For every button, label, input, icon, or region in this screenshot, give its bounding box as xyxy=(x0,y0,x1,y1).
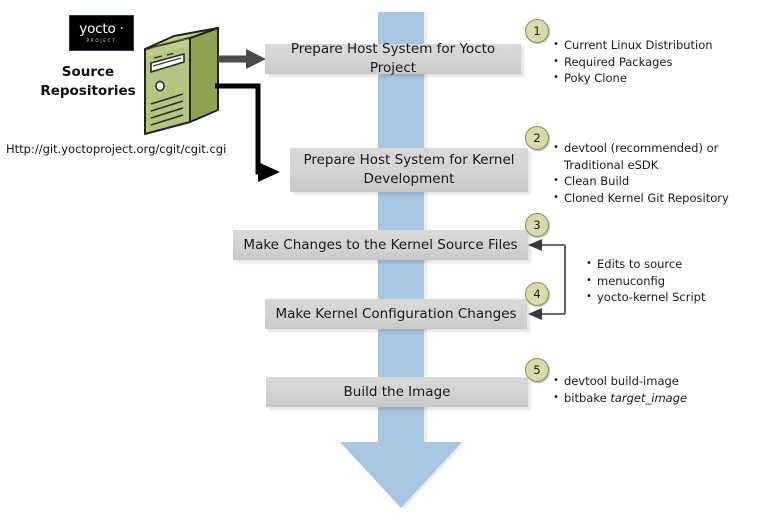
connector-bracket-steps-3-4 xyxy=(528,239,565,320)
bullet-item: Required Packages xyxy=(552,54,713,71)
bullet-item: Edits to source xyxy=(585,256,706,273)
process-box-step-5[interactable]: Build the Image xyxy=(266,377,528,407)
step-number-badge-4-label: 4 xyxy=(533,287,540,301)
step-number-badge-3: 3 xyxy=(525,213,549,237)
bullet-item: Poky Clone xyxy=(552,70,713,87)
process-box-step-2[interactable]: Prepare Host System for Kernel Developme… xyxy=(290,148,528,192)
process-box-step-1-label: Prepare Host System for Yocto Project xyxy=(273,40,513,78)
bullet-item: devtool build-image xyxy=(552,373,687,390)
flow-arrowhead-icon xyxy=(340,442,462,508)
server-icon xyxy=(128,22,224,140)
bullet-list-step-5: devtool build-image bitbake target_image xyxy=(552,373,687,406)
diagram-canvas: yocto · PROJECT Source Repositories Http… xyxy=(0,0,769,517)
bullet-item: yocto-kernel Script xyxy=(585,289,706,306)
process-box-step-4[interactable]: Make Kernel Configuration Changes xyxy=(265,299,527,329)
process-box-step-5-label: Build the Image xyxy=(344,383,451,402)
process-box-step-2-line2: Development xyxy=(364,171,455,187)
bullet-list-step-1: Current Linux Distribution Required Pack… xyxy=(552,37,713,87)
logo-subtitle: PROJECT xyxy=(87,39,117,43)
bullet-item: menuconfig xyxy=(585,273,706,290)
connector-server-to-step2 xyxy=(215,86,280,182)
bullet-item-continuation: Traditional eSDK xyxy=(552,157,729,174)
bullet-item: Cloned Kernel Git Repository xyxy=(552,190,729,207)
bullet-list-step-2: devtool (recommended) or Traditional eSD… xyxy=(552,140,729,206)
step-number-badge-5-label: 5 xyxy=(533,363,540,377)
step-number-badge-1-label: 1 xyxy=(533,24,540,38)
process-box-step-3[interactable]: Make Changes to the Kernel Source Files xyxy=(233,230,528,260)
step-number-badge-2-label: 2 xyxy=(533,131,540,145)
source-repository-url: Http://git.yoctoproject.org/cgit/cgit.cg… xyxy=(6,142,226,156)
step-number-badge-4: 4 xyxy=(525,282,549,306)
bullet-item: Current Linux Distribution xyxy=(552,37,713,54)
bullet-list-steps-3-4: Edits to source menuconfig yocto-kernel … xyxy=(585,256,706,306)
yocto-project-logo: yocto · PROJECT xyxy=(69,15,134,51)
process-box-step-3-label: Make Changes to the Kernel Source Files xyxy=(243,236,517,255)
bullet-text: bitbake xyxy=(564,391,610,405)
bullet-item: Clean Build xyxy=(552,173,729,190)
process-box-step-4-label: Make Kernel Configuration Changes xyxy=(275,305,516,324)
step-number-badge-3-label: 3 xyxy=(533,218,540,232)
connector-server-to-step1 xyxy=(218,49,266,69)
bullet-item: devtool (recommended) or xyxy=(552,140,729,157)
step-number-badge-1: 1 xyxy=(525,19,549,43)
bullet-item: bitbake target_image xyxy=(552,390,687,407)
process-box-step-1[interactable]: Prepare Host System for Yocto Project xyxy=(265,44,521,74)
step-number-badge-2: 2 xyxy=(525,126,549,150)
bullet-text-italic: target_image xyxy=(610,391,687,405)
step-number-badge-5: 5 xyxy=(525,358,549,382)
process-box-step-2-line1: Prepare Host System for Kernel xyxy=(303,152,514,168)
logo-wordmark: yocto · xyxy=(79,23,123,37)
process-box-step-2-label: Prepare Host System for Kernel Developme… xyxy=(303,151,514,189)
